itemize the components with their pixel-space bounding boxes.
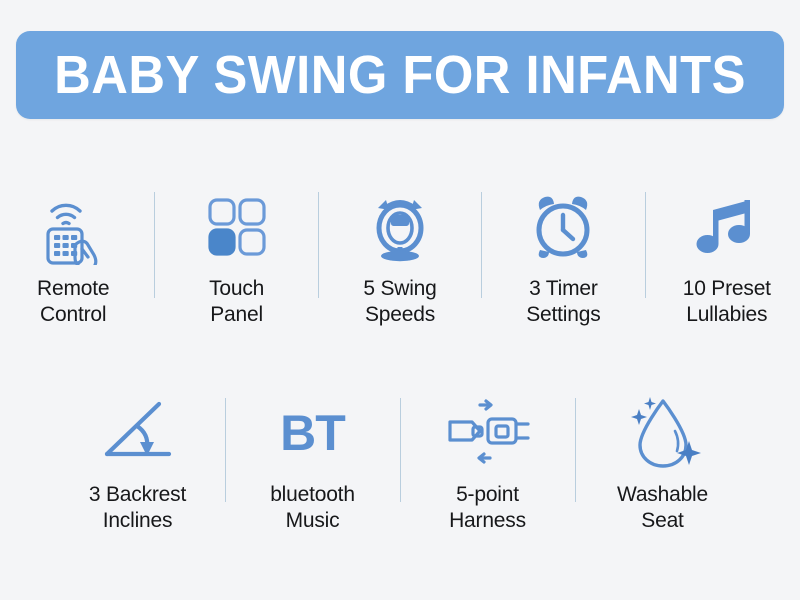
feature-label: Touch Panel: [209, 276, 264, 327]
divider: [318, 192, 319, 298]
feature-remote-control: Remote Control: [0, 186, 146, 327]
incline-angle-icon: [97, 392, 179, 474]
divider: [225, 398, 226, 502]
feature-label: Remote Control: [37, 276, 109, 327]
title-banner-container: BABY SWING FOR INFANTS: [0, 0, 800, 150]
feature-label: bluetooth Music: [270, 482, 355, 533]
feature-preset-lullabies: 10 Preset Lullabies: [654, 186, 800, 327]
feature-swing-speeds: 5 Swing Speeds: [327, 186, 473, 327]
feature-backrest-inclines: 3 Backrest Inclines: [59, 392, 217, 533]
feature-label: 3 Backrest Inclines: [89, 482, 186, 533]
bt-abbreviation-text: BT: [280, 408, 345, 458]
remote-control-icon: [34, 186, 112, 268]
water-drop-sparkle-icon: [623, 392, 703, 474]
feature-label: 5-point Harness: [449, 482, 526, 533]
feature-label: 3 Timer Settings: [526, 276, 600, 327]
divider: [575, 398, 576, 502]
feature-label: 10 Preset Lullabies: [683, 276, 771, 327]
feature-label: 5 Swing Speeds: [363, 276, 436, 327]
divider: [645, 192, 646, 298]
divider: [400, 398, 401, 502]
feature-washable-seat: Washable Seat: [584, 392, 742, 533]
page-title: BABY SWING FOR INFANTS: [54, 48, 746, 102]
feature-row-2: 3 Backrest Inclines BT bluetooth Music: [0, 392, 800, 533]
touch-panel-icon: [204, 186, 270, 268]
divider: [154, 192, 155, 298]
swing-speeds-icon: [362, 186, 438, 268]
feature-harness: 5-point Harness: [409, 392, 567, 533]
feature-label: Washable Seat: [617, 482, 708, 533]
title-banner: BABY SWING FOR INFANTS: [16, 31, 784, 119]
feature-timer-settings: 3 Timer Settings: [490, 186, 636, 327]
alarm-clock-icon: [527, 186, 599, 268]
music-note-icon: [694, 186, 760, 268]
divider: [481, 192, 482, 298]
feature-touch-panel: Touch Panel: [163, 186, 309, 327]
bluetooth-bt-icon: BT: [280, 392, 345, 474]
feature-bluetooth-music: BT bluetooth Music: [234, 392, 392, 533]
harness-buckle-icon: [442, 392, 534, 474]
feature-row-1: Remote Control Touch Panel: [0, 186, 800, 327]
